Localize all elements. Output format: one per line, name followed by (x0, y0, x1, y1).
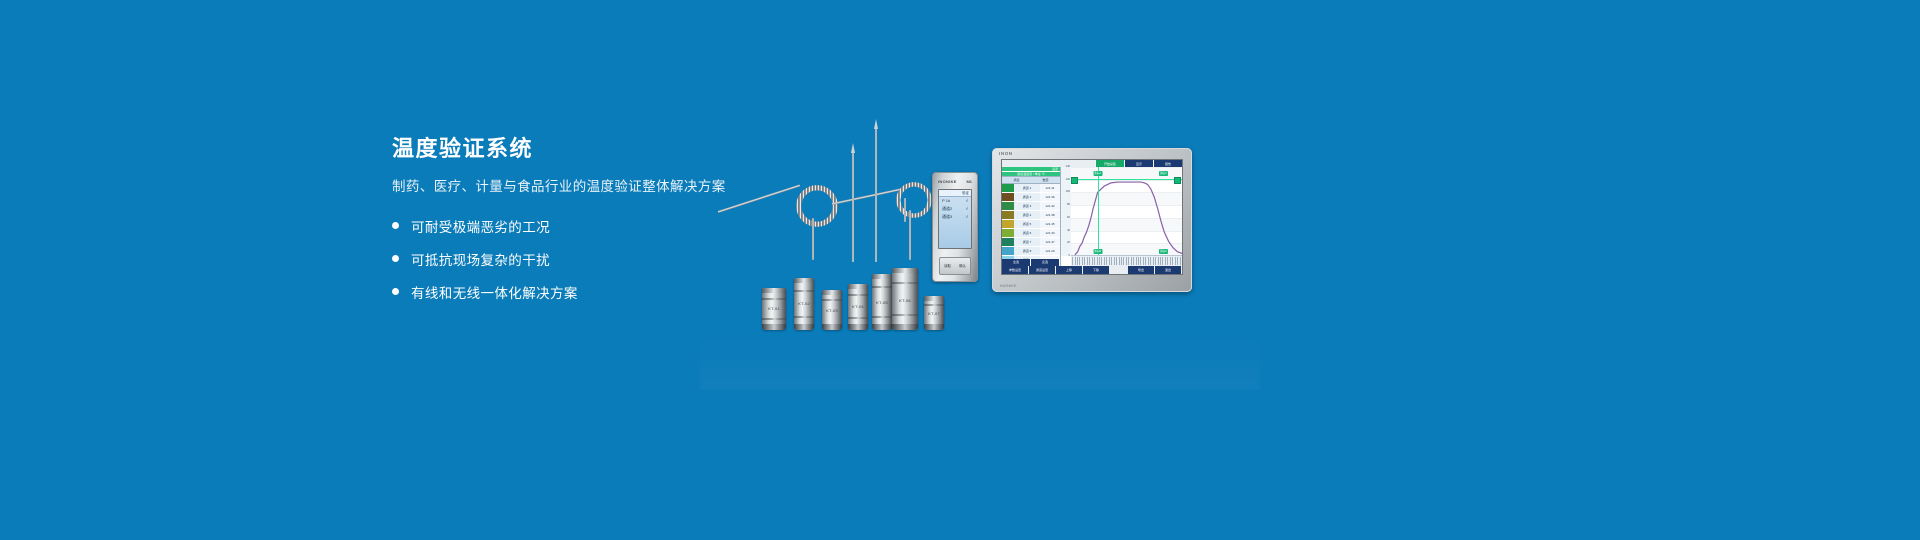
chart-x-tick (1140, 257, 1141, 265)
chart-x-tick (1119, 257, 1120, 265)
chart-x-tick (1165, 257, 1166, 265)
handheld-lcd-row-label: 通道2 (942, 205, 952, 213)
bullet-dot-icon (392, 222, 399, 229)
data-logger-1: KT-01 (762, 288, 786, 330)
monitor-brand-label: INON (999, 151, 1013, 156)
chart-x-tick (1111, 257, 1112, 265)
chart-y-tick-label: 100 (1066, 190, 1070, 193)
chart-x-tick (1138, 257, 1139, 265)
button-channel-settings[interactable]: 通道设置 (1029, 266, 1055, 274)
probe-wire-right (832, 188, 903, 204)
table-row[interactable]: 通道 4121.38 (1002, 211, 1060, 220)
logger-band (848, 294, 868, 296)
channel-name-cell: 通道 8 (1014, 247, 1040, 255)
feature-bullet-label: 可耐受极端恶劣的工况 (411, 216, 550, 236)
chart-y-tick-label: 0 (1069, 254, 1070, 257)
logger-cap (794, 278, 814, 283)
logger-cap (848, 284, 868, 289)
needle-probe-long (875, 128, 877, 262)
temperature-chart: 020406080100120140 游标A 游标B 游标C 游标D (1061, 167, 1182, 266)
data-logger-7: KT-07 (924, 296, 944, 330)
chart-y-tick-label: 80 (1067, 203, 1070, 206)
logger-cap (822, 290, 842, 295)
handheld-lcd-row-value: √ (966, 213, 968, 221)
product-photo-group: KT-01 KT-02 KT-03 KT-04 KT- (700, 110, 1260, 330)
channel-value-cell: 121.33 (1040, 229, 1060, 237)
chart-x-tick (1101, 257, 1102, 265)
chart-x-tick (1075, 257, 1076, 265)
handheld-lcd-row-value: √ (966, 205, 968, 213)
table-footer: 全选 反选 (1002, 259, 1060, 266)
logger-band (794, 316, 814, 318)
chart-cursor-label-top[interactable]: 游标A (1093, 171, 1102, 176)
channel-value-cell: 121.47 (1040, 238, 1060, 246)
chart-x-tick (1133, 257, 1134, 265)
chart-x-tick (1082, 257, 1083, 265)
channel-value-cell: 121.36 (1040, 193, 1060, 201)
bullet-dot-icon (392, 255, 399, 262)
table-row[interactable]: 通道 1121.41 (1002, 184, 1060, 193)
handheld-brand-label: INONIKE (938, 179, 957, 184)
chart-x-tick (1072, 257, 1073, 265)
feature-bullet-label: 有线和无线一体化解决方案 (411, 282, 578, 302)
channel-color-swatch (1002, 247, 1014, 255)
tab-display[interactable]: 显示 (1125, 160, 1153, 167)
logger-cap (762, 288, 786, 293)
chart-x-tick (1109, 257, 1110, 265)
chart-x-tick (1131, 257, 1132, 265)
chart-x-tick (1123, 257, 1124, 265)
chart-x-tick (1121, 257, 1122, 265)
logger-band (762, 318, 786, 320)
channel-color-swatch (1002, 184, 1014, 192)
handheld-model-label: M1 (966, 179, 972, 184)
screen-top-toolbar: 开始采集 显示 报告 (1002, 160, 1182, 167)
product-reflection (700, 330, 1260, 390)
table-row[interactable]: 通道 2121.36 (1002, 193, 1060, 202)
chart-x-tick (1145, 257, 1146, 265)
channel-name-cell: 通道 4 (1014, 211, 1040, 219)
toolbar-spacer (1002, 160, 1095, 167)
channel-color-swatch (1002, 202, 1014, 210)
chart-x-tick (1116, 257, 1117, 265)
logger-band (924, 304, 944, 306)
channel-color-swatch (1002, 193, 1014, 201)
logger-cap (892, 268, 918, 273)
chart-x-tick (1155, 257, 1156, 265)
handheld-lcd-title: 验证 (939, 190, 971, 197)
chart-x-tick (1106, 257, 1107, 265)
logger-label: KT-05 (876, 300, 888, 305)
data-logger-3: KT-03 (822, 290, 842, 330)
data-logger-5: KT-05 (872, 274, 892, 330)
chart-x-tick (1143, 257, 1144, 265)
tab-report[interactable]: 报告 (1154, 160, 1182, 167)
logger-label: KT-04 (852, 304, 864, 309)
channel-value-cell: 121.45 (1040, 220, 1060, 228)
chart-x-tick (1087, 257, 1088, 265)
logger-base (892, 324, 918, 330)
validation-monitor: INON INONIKE 开始采集 显示 报告 设置 通道温度值 / 单位 ℃ (992, 148, 1192, 292)
needle-probe-short (852, 152, 854, 262)
logger-label: KT-01 (768, 306, 780, 311)
chart-x-tick (1126, 257, 1127, 265)
chart-y-tick-label: 40 (1067, 229, 1070, 232)
handheld-lcd-row-label: P 1# (942, 197, 950, 205)
chart-x-tick (1128, 257, 1129, 265)
logger-band (794, 290, 814, 292)
table-column-headers: 通道 数值 (1002, 176, 1060, 184)
chart-x-tick (1094, 257, 1095, 265)
channel-color-swatch (1002, 238, 1014, 246)
feature-bullet-label: 可抵抗现场复杂的干扰 (411, 249, 550, 269)
chart-x-tick (1084, 257, 1085, 265)
chart-y-tick-label: 20 (1067, 241, 1070, 244)
logger-base (794, 324, 814, 330)
data-logger-2: KT-02 (794, 278, 814, 330)
screen-body: 设置 通道温度值 / 单位 ℃ 通道 数值 通道 1121.41通道 2121.… (1002, 167, 1182, 266)
chart-x-tick (1177, 257, 1178, 265)
channel-value-cell: 121.38 (1040, 211, 1060, 219)
logger-base (762, 324, 786, 330)
logger-band (892, 282, 918, 284)
table-row[interactable]: 通道 8121.29 (1002, 247, 1060, 256)
table-row[interactable]: 通道 7121.47 (1002, 238, 1060, 247)
chart-cursor-label-top-right[interactable]: 游标C (1159, 171, 1168, 176)
channel-name-cell: 通道 7 (1014, 238, 1040, 246)
chart-x-tick (1079, 257, 1080, 265)
channel-value-cell: 121.41 (1040, 184, 1060, 192)
chart-x-tick (1097, 257, 1098, 265)
probe-wire-left (718, 184, 800, 212)
logger-label: KT-07 (928, 311, 940, 316)
data-logger-6: KT-06 (892, 268, 918, 330)
table-row[interactable]: 通道 3121.42 (1002, 202, 1060, 211)
logger-band (762, 298, 786, 300)
chart-x-tick (1153, 257, 1154, 265)
logger-cap (924, 296, 944, 301)
chart-x-tick (1148, 257, 1149, 265)
logger-band (892, 314, 918, 316)
handheld-lcd-row: P 1# √ (939, 197, 971, 205)
handheld-lcd-row: 通道3 √ (939, 213, 971, 221)
chart-x-tick (1162, 257, 1163, 265)
logger-band (872, 286, 892, 288)
handheld-reader: INONIKE M1 验证 P 1# √ 通道2 √ 通道3 √ 读取 (932, 172, 978, 282)
chart-x-tick (1136, 257, 1137, 265)
channel-color-swatch (1002, 229, 1014, 237)
chart-y-tick-label: 140 (1066, 165, 1070, 168)
channel-name-cell: 通道 3 (1014, 202, 1040, 210)
channel-value-cell: 121.29 (1040, 247, 1060, 255)
logger-base (822, 324, 842, 330)
table-row[interactable]: 通道 5121.45 (1002, 220, 1060, 229)
chart-x-tick (1160, 257, 1161, 265)
channel-name-cell: 通道 1 (1014, 184, 1040, 192)
chart-x-tick (1175, 257, 1176, 265)
handheld-lcd-row-value: √ (966, 197, 968, 205)
chart-x-tick (1077, 257, 1078, 265)
monitor-screen: 开始采集 显示 报告 设置 通道温度值 / 单位 ℃ 通道 数值 通道 112 (1001, 159, 1183, 275)
chart-x-tick (1158, 257, 1159, 265)
chart-x-tick (1180, 257, 1181, 265)
chart-x-axis (1071, 255, 1182, 266)
chart-x-tick (1099, 257, 1100, 265)
logger-band (848, 317, 868, 319)
chart-y-tick-label: 120 (1066, 178, 1070, 181)
chart-x-tick (1150, 257, 1151, 265)
logger-label: KT-02 (798, 301, 810, 306)
chart-cursor-handle-left[interactable] (1071, 177, 1078, 184)
logger-6-stem (904, 198, 906, 222)
handheld-button-confirm[interactable]: 确认 (959, 264, 966, 269)
coiled-probe-right (896, 182, 932, 218)
channel-name-cell: 通道 2 (1014, 193, 1040, 201)
chart-x-tick (1167, 257, 1168, 265)
probe-stem-left (812, 218, 814, 260)
table-footer-invert[interactable]: 反选 (1031, 259, 1060, 266)
handheld-button-read[interactable]: 读取 (944, 264, 951, 269)
table-row[interactable]: 通道 6121.33 (1002, 229, 1060, 238)
table-row-list: 通道 1121.41通道 2121.36通道 3121.42通道 4121.38… (1002, 184, 1060, 259)
tab-start-acquisition[interactable]: 开始采集 (1096, 160, 1124, 167)
logger-base (848, 324, 868, 330)
handheld-lcd-row: 通道2 √ (939, 205, 971, 213)
logger-cap (872, 274, 892, 279)
chart-cursor-label-bottom[interactable]: 游标B (1093, 249, 1102, 254)
logger-band (872, 316, 892, 318)
button-parameter-settings[interactable]: 参数设置 (1002, 266, 1028, 274)
chart-x-tick (1104, 257, 1105, 265)
channel-name-cell: 通道 5 (1014, 220, 1040, 228)
handheld-keypad[interactable]: 读取 确认 (939, 257, 971, 275)
channel-table: 设置 通道温度值 / 单位 ℃ 通道 数值 通道 1121.41通道 2121.… (1002, 167, 1061, 266)
bullet-dot-icon (392, 288, 399, 295)
probe-stem-right (909, 210, 911, 260)
chart-y-tick-label: 60 (1067, 216, 1070, 219)
logger-base (924, 324, 944, 330)
channel-name-cell: 通道 6 (1014, 229, 1040, 237)
table-column-header-value: 数值 (1031, 177, 1060, 183)
chart-x-tick (1089, 257, 1090, 265)
monitor-footer-brand: INONIKE (1000, 283, 1016, 288)
chart-x-tick (1172, 257, 1173, 265)
table-column-header-channel: 通道 (1002, 177, 1031, 183)
data-logger-4: KT-04 (848, 284, 868, 330)
chart-cursor-handle-right[interactable] (1174, 177, 1181, 184)
logger-label: KT-06 (899, 298, 911, 303)
channel-value-cell: 121.42 (1040, 202, 1060, 210)
handheld-lcd-screen: 验证 P 1# √ 通道2 √ 通道3 √ (938, 189, 972, 249)
chart-x-tick (1092, 257, 1093, 265)
logger-base (872, 324, 892, 330)
hero-banner: 温度验证系统 制药、医疗、计量与食品行业的温度验证整体解决方案 可耐受极端恶劣的… (0, 0, 1920, 540)
chart-cursor-horizontal[interactable] (1071, 179, 1182, 180)
channel-color-swatch (1002, 220, 1014, 228)
chart-x-tick (1114, 257, 1115, 265)
chart-cursor-label-bottom-right[interactable]: 游标D (1159, 249, 1168, 254)
coiled-probe-left (796, 185, 838, 227)
channel-color-swatch (1002, 211, 1014, 219)
logger-band (822, 299, 842, 301)
table-footer-select-all[interactable]: 全选 (1002, 259, 1031, 266)
logger-label: KT-03 (826, 308, 838, 313)
chart-x-tick (1170, 257, 1171, 265)
handheld-lcd-row-label: 通道3 (942, 213, 952, 221)
